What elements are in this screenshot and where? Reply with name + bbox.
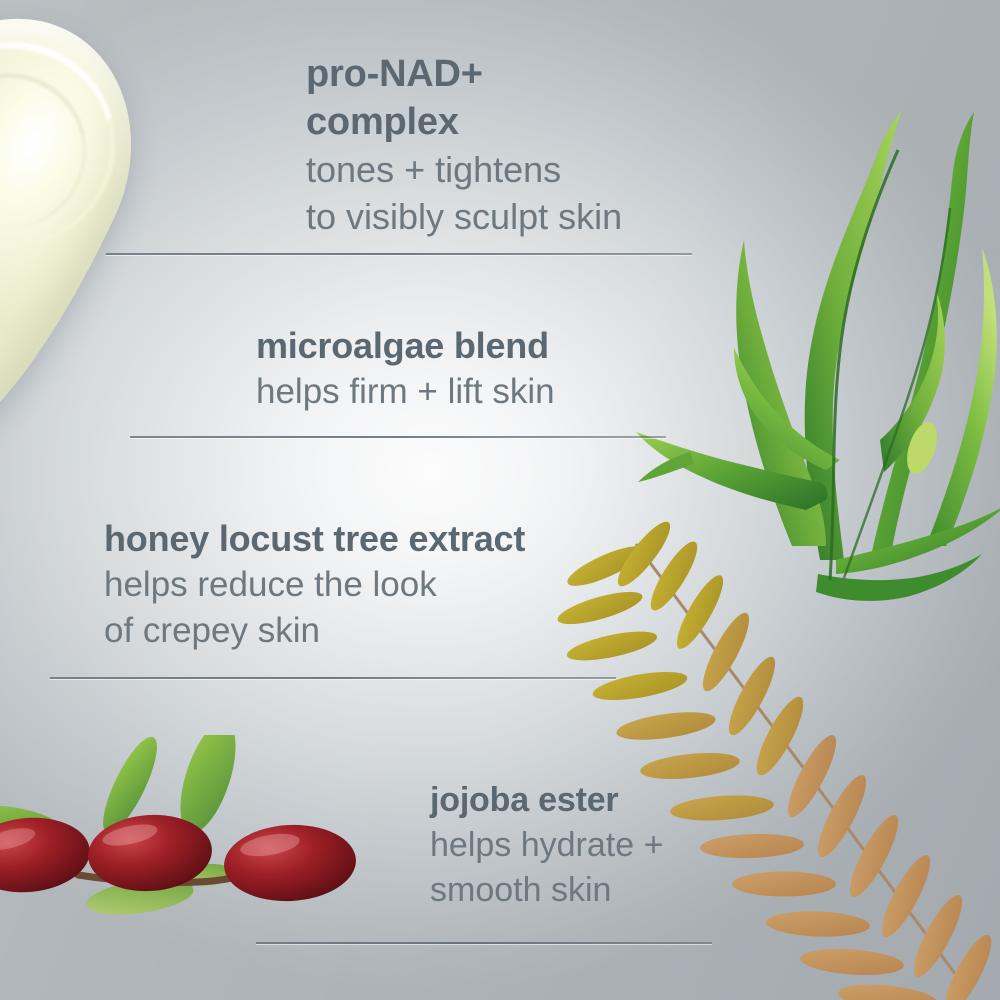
ingredient-benefit-line-2: of crepey skin [104, 608, 525, 654]
ingredient-benefit-line-1: helps firm + lift skin [256, 369, 555, 415]
ingredient-headline-line-1: honey locust tree extract [104, 515, 525, 562]
ingredient-benefit-line-2: to visibly sculpt skin [306, 193, 622, 240]
ingredient-block-pro-nad-complex: pro-NAD+ complex tones + tightens to vis… [306, 50, 622, 240]
ingredient-block-jojoba-ester: jojoba ester helps hydrate + smooth skin [430, 777, 663, 913]
jojoba-berries-image [0, 735, 390, 945]
ingredient-headline-line-2: complex [306, 98, 622, 146]
ingredient-headline-line-1: jojoba ester [430, 777, 663, 823]
ingredient-benefit-line-1: helps hydrate + [430, 823, 663, 868]
divider-rule-4 [256, 942, 712, 944]
berry-left [0, 813, 93, 898]
ingredient-benefit-line-2: smooth skin [430, 868, 663, 913]
infographic-canvas: pro-NAD+ complex tones + tightens to vis… [0, 0, 1000, 1000]
honey-locust-leaflets [555, 520, 1000, 1000]
divider-rule-2 [130, 436, 666, 438]
ingredient-benefit-line-1: helps reduce the look [104, 562, 525, 608]
divider-rule-1 [106, 253, 692, 255]
honey-locust-frond-image [540, 520, 1000, 1000]
ingredient-block-microalgae-blend: microalgae blend helps firm + lift skin [256, 322, 555, 415]
ingredient-headline-line-1: pro-NAD+ [306, 50, 622, 98]
berry-right [222, 822, 358, 905]
divider-rule-3 [50, 677, 616, 679]
ingredient-block-honey-locust-tree-extract: honey locust tree extract helps reduce t… [104, 515, 525, 654]
ingredient-benefit-line-1: tones + tightens [306, 146, 622, 193]
ingredient-headline-line-1: microalgae blend [256, 322, 555, 369]
